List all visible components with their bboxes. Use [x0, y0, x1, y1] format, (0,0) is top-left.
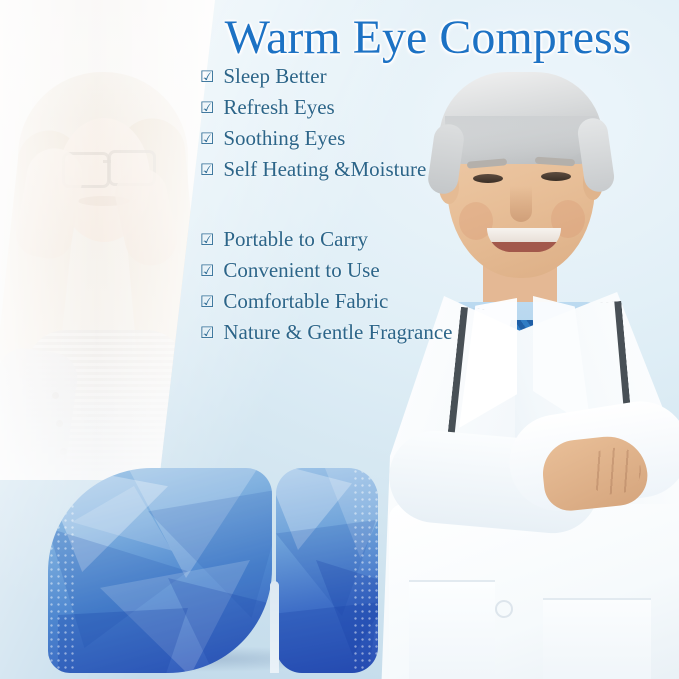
mask-nose-notch	[270, 581, 279, 673]
lab-coat-button	[495, 600, 513, 618]
feature-label: Soothing Eyes	[223, 126, 345, 151]
feature-item: ☑ Refresh Eyes	[200, 95, 620, 126]
feature-label: Self Heating &Moisture	[223, 157, 426, 182]
checkbox-checked-icon: ☑	[200, 325, 214, 341]
feature-list: ☑ Sleep Better ☑ Refresh Eyes ☑ Soothing…	[200, 64, 620, 351]
feature-label: Portable to Carry	[223, 227, 368, 252]
photo-white-wash	[0, 0, 215, 480]
checkbox-checked-icon: ☑	[200, 100, 214, 116]
feature-group-benefits: ☑ Sleep Better ☑ Refresh Eyes ☑ Soothing…	[200, 64, 620, 188]
checkbox-checked-icon: ☑	[200, 162, 214, 178]
feature-item: ☑ Sleep Better	[200, 64, 620, 95]
checkbox-checked-icon: ☑	[200, 232, 214, 248]
feature-label: Comfortable Fabric	[223, 289, 388, 314]
page-title: Warm Eye Compress	[182, 12, 674, 64]
feature-item: ☑ Nature & Gentle Fragrance	[200, 320, 620, 351]
mask-perforation-texture	[48, 468, 74, 673]
mask-right-pad	[276, 468, 378, 673]
product-marketing-image: Warm Eye Compress ☑ Sleep Better ☑ Refre…	[0, 0, 679, 679]
feature-item: ☑ Comfortable Fabric	[200, 289, 620, 320]
feature-label: Convenient to Use	[223, 258, 379, 283]
feature-item: ☑ Self Heating &Moisture	[200, 157, 620, 188]
feature-item: ☑ Portable to Carry	[200, 227, 620, 258]
checkbox-checked-icon: ☑	[200, 294, 214, 310]
checkbox-checked-icon: ☑	[200, 263, 214, 279]
warm-eye-compress-mask	[48, 468, 378, 673]
lab-coat-pocket-right	[543, 598, 651, 679]
mask-facet-pattern-left	[48, 468, 272, 673]
feature-item: ☑ Convenient to Use	[200, 258, 620, 289]
feature-group-usability: ☑ Portable to Carry ☑ Convenient to Use …	[200, 227, 620, 351]
checkbox-checked-icon: ☑	[200, 69, 214, 85]
mask-perforation-texture	[352, 468, 378, 673]
feature-item: ☑ Soothing Eyes	[200, 126, 620, 157]
mask-left-pad	[48, 468, 272, 673]
checkbox-checked-icon: ☑	[200, 131, 214, 147]
lab-coat-pocket-left	[409, 580, 495, 679]
feature-label: Refresh Eyes	[223, 95, 334, 120]
feature-label: Nature & Gentle Fragrance	[223, 320, 452, 345]
woman-rubbing-eyes-photo	[0, 0, 215, 480]
feature-label: Sleep Better	[223, 64, 326, 89]
